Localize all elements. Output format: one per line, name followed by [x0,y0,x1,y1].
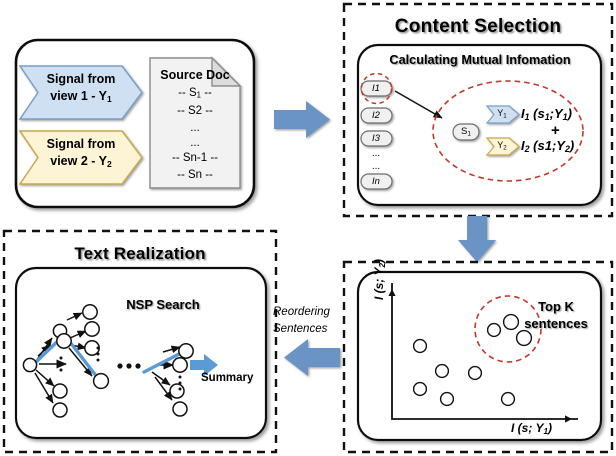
nsp-node [179,344,193,358]
sentence-pill-in: In [372,176,380,187]
nsp-node [173,358,187,372]
reordering-label-line2: Sentences [273,323,327,335]
flow-arrow-right [274,101,330,138]
source-doc-line-2: -- S2 -- [177,105,213,117]
signal-view2-line1: Signal from [47,137,116,151]
diagram-vector-layer [0,0,616,456]
scatter-point [436,365,449,378]
nsp-node [170,384,184,398]
pill-ellipsis-1: ... [372,148,380,159]
source-doc-line-4: ... [190,137,200,149]
nsp-search-title: NSP Search [126,297,199,312]
calculating-mi-title: Calculating Mutual Infomation [389,53,570,67]
scatter-point-topk [504,315,519,330]
text-realization-title: Text Realization [74,244,205,264]
reordering-label-line1: Reordering [273,306,330,318]
scatter-y-axis-label: I (s; Y2) [372,259,387,300]
nsp-node [94,374,109,389]
sentence-pill-i2: I2 [372,110,380,121]
summary-label: Summary [201,372,253,384]
signal-view2-line2: view 2 - Y2 [50,154,111,169]
source-doc-title: Source Doc [160,68,229,82]
nsp-node [83,305,97,319]
scatter-point [469,367,482,380]
graph-horizontal-dots [117,363,140,368]
scatter-point [414,340,427,353]
pill-ellipsis-2: ... [372,161,380,172]
y1-pill-label: Y1 [497,108,506,119]
mi-formula-2: I2 (s1;Y2) [521,138,574,154]
nsp-node [173,402,187,416]
nsp-node [23,358,36,371]
sentence-pill-i1: I1 [372,83,380,94]
scatter-point [414,383,427,396]
source-doc-line-6: -- Sn -- [177,169,213,181]
mi-formula-1: I1 (s1;Y1) [521,106,572,122]
flow-arrow-down [458,216,496,262]
s1-node-label: S1 [461,126,471,137]
scatter-x-axis-label: I (s; Y1) [511,421,552,436]
topk-label-line2: sentences [524,316,588,331]
source-doc-line-1: -- S1 -- [178,87,212,100]
signal-view1-line2: view 1 - Y1 [50,89,111,104]
scatter-point [502,393,515,406]
signal-view1-line1: Signal from [47,72,116,86]
nsp-node [53,384,67,398]
source-doc-line-3: ... [190,122,200,134]
flow-arrow-left [284,339,340,376]
source-doc-line-5: -- Sn-1 -- [172,152,218,164]
diagram-canvas: Signal from view 1 - Y1 Signal from view… [0,0,616,456]
nsp-node [85,322,99,336]
sentence-pill-i3: I3 [372,133,380,144]
text-realization-panel [4,231,276,452]
nsp-node [57,334,71,348]
mi-plus-sign: + [551,122,560,139]
nsp-node [53,403,67,417]
content-selection-title: Content Selection [395,16,562,38]
scatter-point-topk [517,331,532,346]
topk-label-line1: Top K [538,299,574,314]
scatter-point-topk [488,324,501,337]
y2-pill-label: Y2 [497,140,506,151]
scatter-point [441,393,454,406]
